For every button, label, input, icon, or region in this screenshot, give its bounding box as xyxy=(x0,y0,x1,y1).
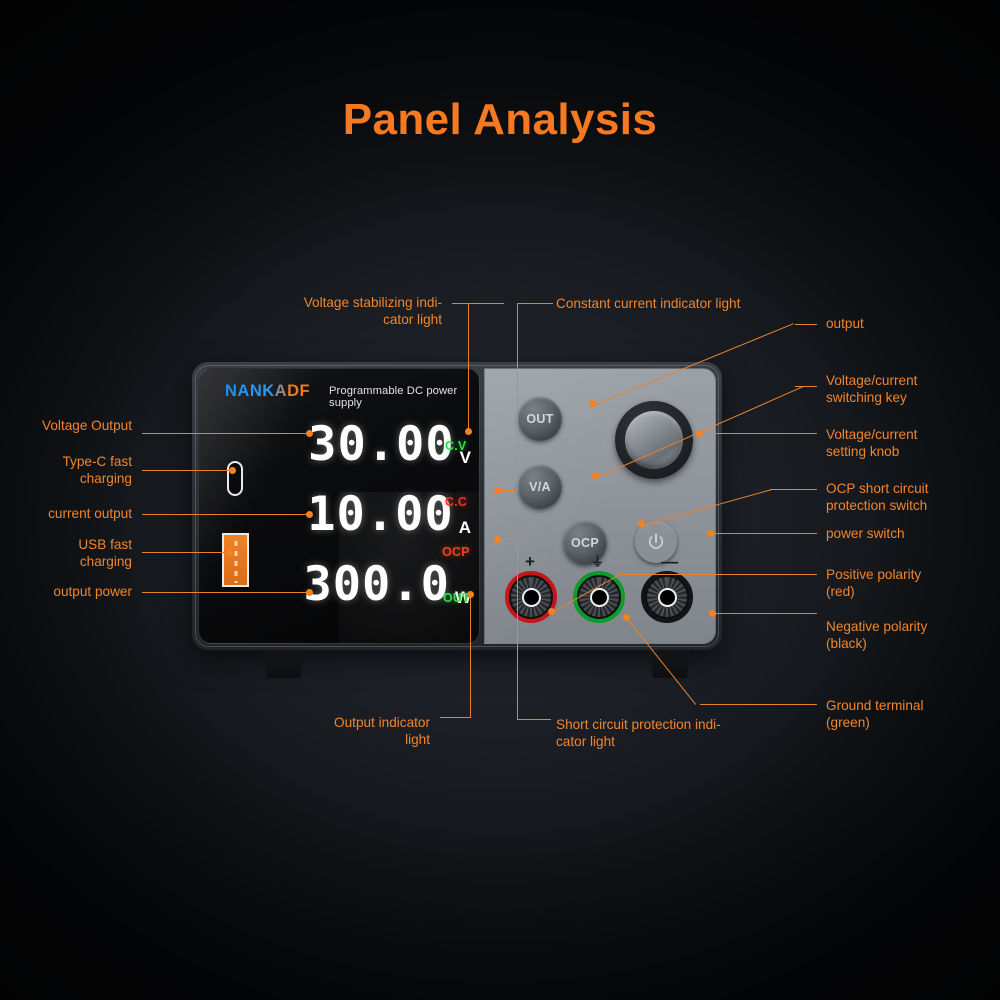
callout-setting-knob: Voltage/current setting knob xyxy=(826,427,996,460)
leader-output-h xyxy=(795,324,817,325)
voltage-value: 30.00 xyxy=(308,421,454,468)
power-readout: 300.0 W xyxy=(303,561,471,608)
callout-voltage-output: Voltage Output xyxy=(0,418,132,435)
panel-analysis-diagram: Panel Analysis xyxy=(0,0,1000,1000)
leader-cc-top xyxy=(517,303,553,304)
point-current-output xyxy=(306,511,313,518)
callout-type-c: Type-C fast charging xyxy=(0,454,132,487)
callout-positive-polarity: Positive polarity (red) xyxy=(826,567,996,600)
point-output-power xyxy=(306,589,313,596)
ocp-indicator-light: OCP xyxy=(442,545,470,559)
device-subtitle: Programmable DC power supply xyxy=(329,385,479,409)
point-ground-terminal xyxy=(623,614,630,621)
leader-ocplight-in xyxy=(500,539,518,540)
callout-cv-light: Voltage stabilizing indi- cator light xyxy=(220,295,442,328)
point-positive-terminal xyxy=(548,608,555,615)
callout-output-light: Output indicator light xyxy=(266,715,430,748)
point-cc-light xyxy=(494,487,501,494)
voltage-current-switch-button[interactable]: V/A xyxy=(518,465,562,509)
control-panel: OUT V/A OCP + ⏚ — xyxy=(484,368,716,644)
out-button[interactable]: OUT xyxy=(518,397,562,441)
leader-ocpbtn-h xyxy=(770,489,817,490)
negative-mark: — xyxy=(661,553,678,570)
page-title: Panel Analysis xyxy=(0,95,1000,145)
leader-neg xyxy=(714,613,817,614)
power-value: 300.0 xyxy=(303,561,449,608)
current-readout: 10.00 A xyxy=(307,491,471,538)
leader-knob xyxy=(700,433,817,434)
point-ocp-light xyxy=(494,536,501,543)
cv-indicator-light: C.V xyxy=(445,439,466,453)
display-screen: NANKADF Programmable DC power supply 30.… xyxy=(198,368,480,644)
callout-output: output xyxy=(826,316,996,333)
point-cv-light xyxy=(465,428,472,435)
positive-mark: + xyxy=(525,553,535,570)
callout-cc-light: Constant current indicator light xyxy=(556,296,856,313)
callout-current-output: current output xyxy=(0,506,132,523)
brand-logo: NANKADF xyxy=(225,382,310,401)
leader-current-output xyxy=(142,514,310,515)
leader-voltage-output xyxy=(142,433,310,434)
leader-ocplight-v xyxy=(517,539,518,720)
dc-power-supply: NANKADF Programmable DC power supply 30.… xyxy=(192,362,722,650)
cc-indicator-light: C.C xyxy=(445,495,467,509)
leader-outlight-h xyxy=(440,717,471,718)
leader-power xyxy=(712,533,817,534)
point-usb xyxy=(226,549,233,556)
callout-switching-key: Voltage/current switching key xyxy=(826,373,996,406)
callout-power-switch: power switch xyxy=(826,526,996,543)
point-type-c xyxy=(229,467,236,474)
point-power-switch xyxy=(707,530,714,537)
out-indicator-light: OUT xyxy=(443,591,470,605)
leader-ocplight-h xyxy=(517,719,551,720)
current-value: 10.00 xyxy=(307,491,453,538)
leader-pos-h xyxy=(620,574,817,575)
leader-cc-down xyxy=(517,303,518,491)
power-icon xyxy=(646,532,666,552)
point-negative-terminal xyxy=(709,610,716,617)
current-unit: A xyxy=(459,518,471,538)
point-output-button xyxy=(589,400,596,407)
point-knob xyxy=(696,430,703,437)
callout-ground-terminal: Ground terminal (green) xyxy=(826,698,996,731)
leader-usb xyxy=(142,552,232,553)
point-voltage-output xyxy=(306,430,313,437)
usb-type-c-port-icon xyxy=(227,461,243,496)
leader-outlight-v xyxy=(470,594,471,718)
positive-terminal[interactable] xyxy=(505,571,557,623)
negative-terminal[interactable] xyxy=(641,571,693,623)
point-va-button xyxy=(592,472,599,479)
leader-type-c xyxy=(142,470,235,471)
callout-negative-polarity: Negative polarity (black) xyxy=(826,619,996,652)
callout-output-power: output power xyxy=(0,584,132,601)
point-out-light xyxy=(467,591,474,598)
device-foot-left xyxy=(262,648,306,678)
leader-cc-in xyxy=(500,490,518,491)
point-ocp-button xyxy=(638,520,645,527)
leader-gnd-h xyxy=(700,704,817,705)
usb-a-port-icon xyxy=(222,533,249,587)
leader-output-power xyxy=(142,592,310,593)
callout-ocp-switch: OCP short circuit protection switch xyxy=(826,481,996,514)
ground-mark: ⏚ xyxy=(591,555,604,568)
callout-usb: USB fast charging xyxy=(0,537,132,570)
callout-ocp-light: Short circuit protection indi- cator lig… xyxy=(556,717,846,750)
leader-cv-down xyxy=(468,303,469,433)
leader-cv-top xyxy=(452,303,504,304)
